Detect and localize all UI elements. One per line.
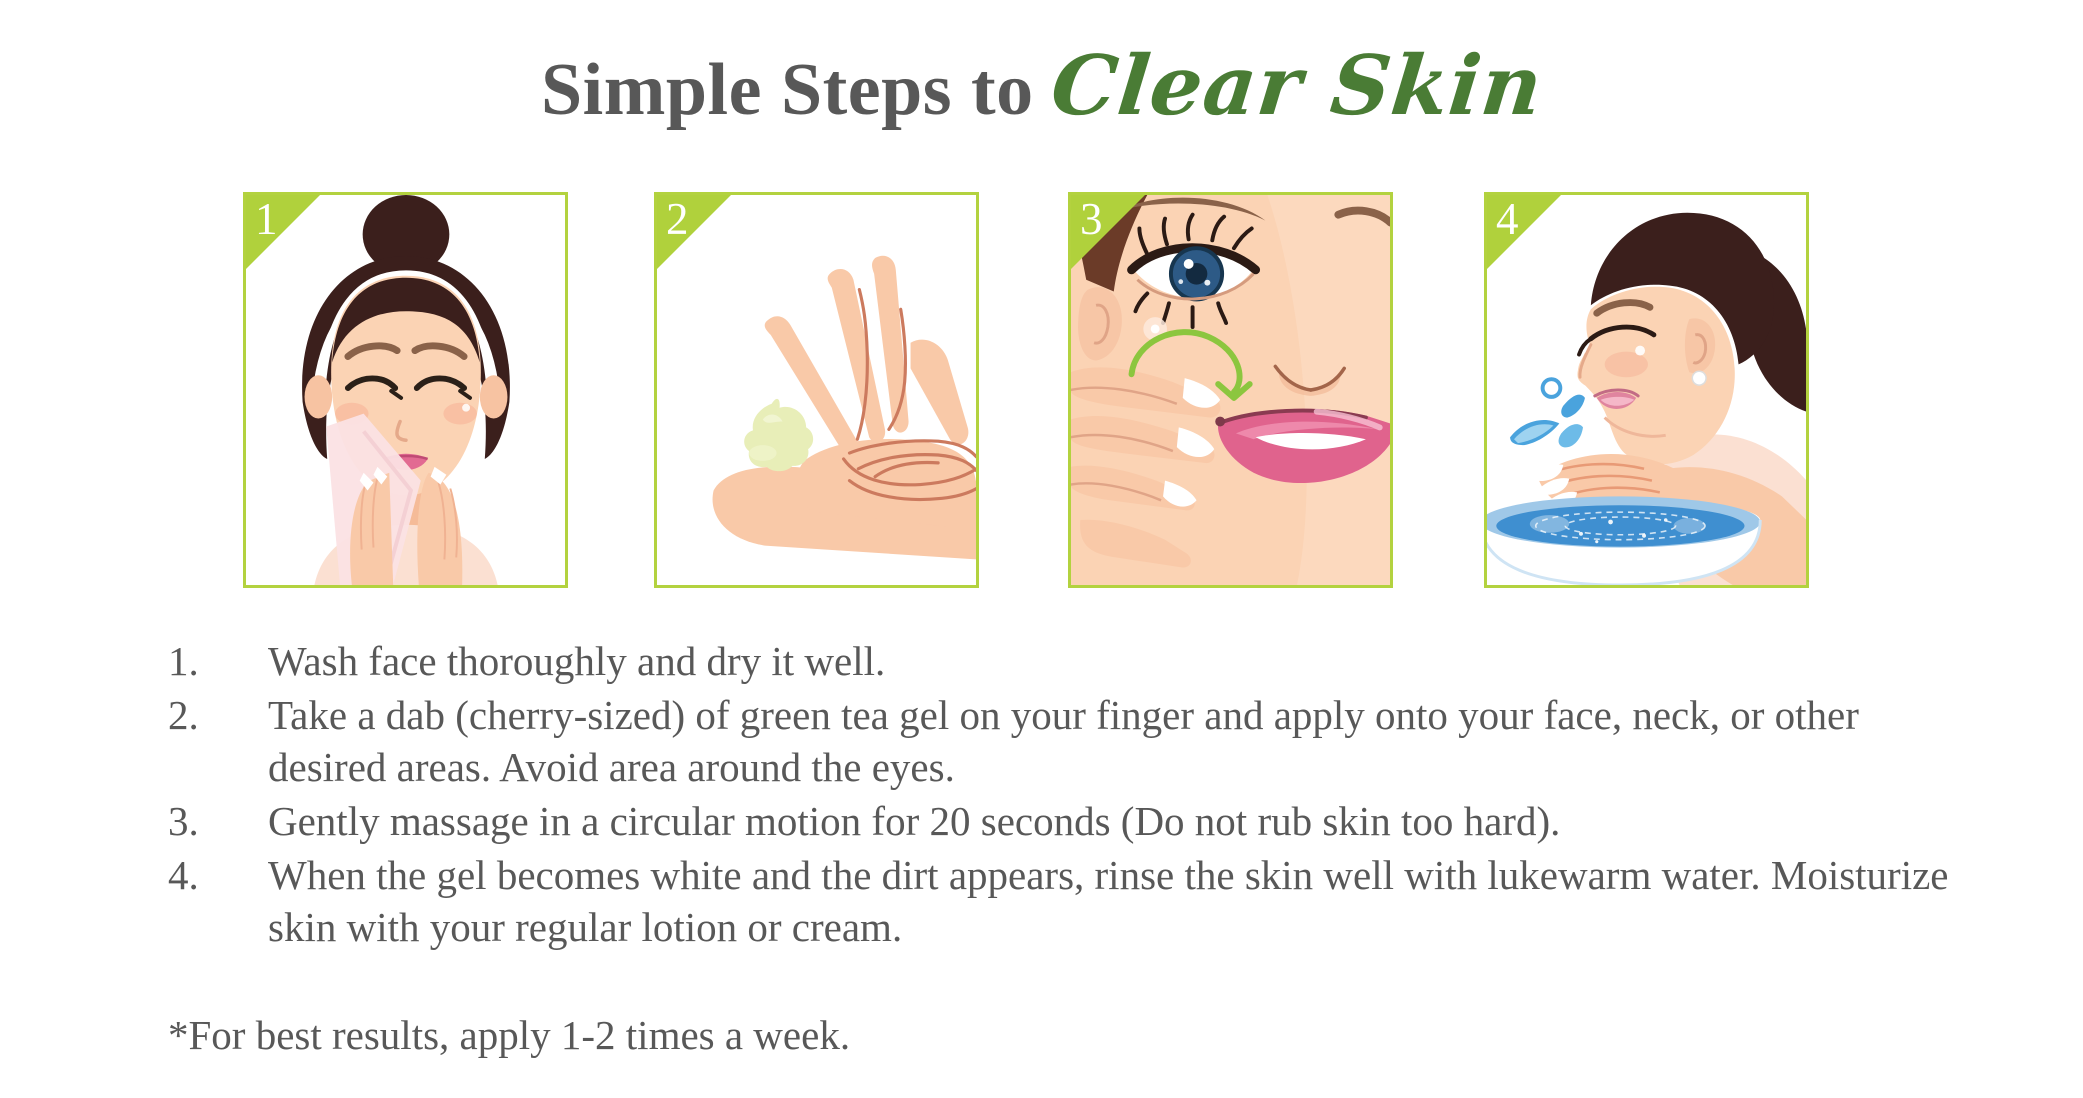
step-number-2: 2	[666, 197, 689, 242]
list-item-text: Take a dab (cherry-sized) of green tea g…	[268, 689, 1958, 793]
footnote-text: *For best results, apply 1-2 times a wee…	[168, 1010, 1768, 1060]
step-number-3: 3	[1080, 197, 1103, 242]
illustration-massage	[1071, 195, 1390, 585]
step-number-4: 4	[1496, 197, 1519, 242]
title-main-text: Simple Steps to	[541, 49, 1034, 131]
list-item: 1. Wash face thoroughly and dry it well.	[168, 635, 1958, 687]
illustration-gel-on-palm	[657, 195, 976, 585]
list-item-marker: 2.	[168, 689, 240, 741]
step-number-1: 1	[255, 197, 278, 242]
list-item-marker: 3.	[168, 795, 240, 847]
infographic-page: Simple Steps toClear Skin	[0, 0, 2083, 1098]
illustration-wash-face	[246, 195, 565, 585]
list-item-text: Gently massage in a circular motion for …	[268, 795, 1958, 847]
panel-gel-on-palm: 2	[654, 192, 979, 588]
list-item-marker: 4.	[168, 849, 240, 901]
page-title: Simple Steps toClear Skin	[0, 38, 2083, 134]
list-item-text: Wash face thoroughly and dry it well.	[268, 635, 1958, 687]
step-image-panels: 1	[0, 192, 2083, 592]
list-item: 2. Take a dab (cherry-sized) of green te…	[168, 689, 1958, 793]
illustration-rinse	[1487, 195, 1806, 585]
list-item-marker: 1.	[168, 635, 240, 687]
list-item: 4. When the gel becomes white and the di…	[168, 849, 1958, 953]
panel-rinse: 4	[1484, 192, 1809, 588]
steps-list: 1. Wash face thoroughly and dry it well.…	[168, 635, 1958, 955]
title-script-text: Clear Skin	[1047, 38, 1547, 134]
list-item-text: When the gel becomes white and the dirt …	[268, 849, 1958, 953]
list-item: 3. Gently massage in a circular motion f…	[168, 795, 1958, 847]
panel-wash-face: 1	[243, 192, 568, 588]
panel-massage: 3	[1068, 192, 1393, 588]
